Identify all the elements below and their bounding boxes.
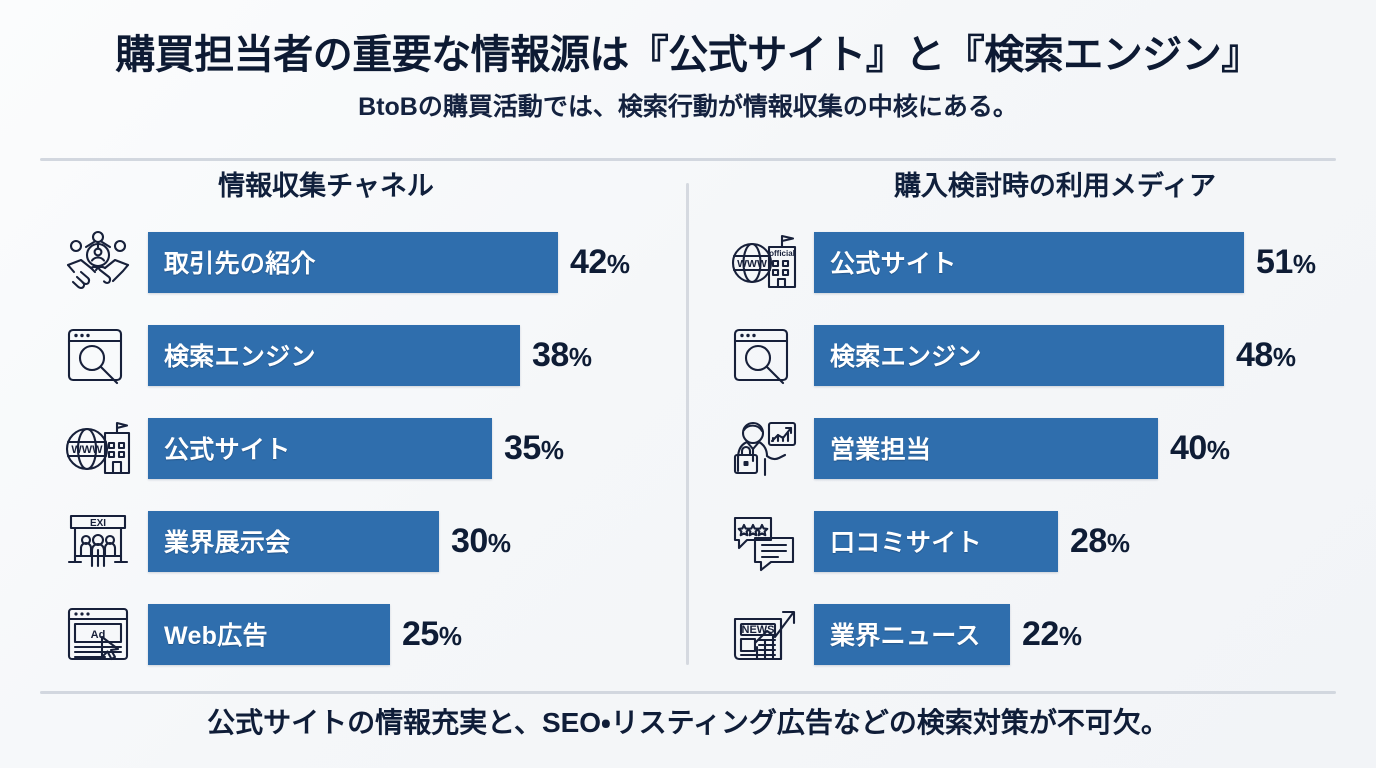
svg-text:official: official (769, 249, 795, 258)
bar-label: Web広告 (164, 616, 268, 652)
bar-and-value: 取引先の紹介 42% (148, 232, 662, 293)
divider-bottom (40, 691, 1336, 694)
bar-fill: 業界ニュース (814, 604, 1010, 665)
bar-value: 48% (1236, 336, 1295, 375)
bar-fill: 業界展示会 (148, 511, 439, 572)
bar-and-value: 業界ニュース 22% (814, 604, 1350, 665)
bar-fill: 検索エンジン (148, 325, 520, 386)
panel-purchase-media: 購入検討時の利用メディア WWW official (688, 172, 1376, 681)
bar-value: 35% (504, 429, 563, 468)
news-growth-icon: NEWS (714, 597, 814, 671)
bar-and-value: 検索エンジン 48% (814, 325, 1350, 386)
bar-list-left: 取引先の紹介 42% (48, 216, 662, 681)
bar-fill: 口コミサイト (814, 511, 1058, 572)
slide-root: 購買担当者の重要な情報源は『公式サイト』と『検索エンジン』 BtoBの購買活動で… (0, 0, 1376, 768)
svg-text:EXI: EXI (90, 518, 106, 529)
bar-value: 30% (451, 522, 510, 561)
handshake-network-icon (48, 225, 148, 299)
exhibition-booth-icon: EXI (48, 504, 148, 578)
bar-fill: 公式サイト (148, 418, 492, 479)
bar-row[interactable]: 検索エンジン 38% (48, 309, 662, 402)
bar-and-value: Web広告 25% (148, 604, 662, 665)
panel-title-right: 購入検討時の利用メディア (714, 172, 1350, 202)
bar-value: 38% (532, 336, 591, 375)
footer: 公式サイトの情報充実と、SEO・リスティング広告などの検索対策が不可欠。 (0, 706, 1376, 740)
sales-rep-chart-icon (714, 411, 814, 485)
bar-and-value: 業界展示会 30% (148, 511, 662, 572)
svg-text:WWW: WWW (737, 258, 767, 270)
bar-label: 口コミサイト (830, 523, 982, 559)
bar-row[interactable]: 取引先の紹介 42% (48, 216, 662, 309)
bar-row[interactable]: NEWS 業界ニュース 22% (714, 588, 1350, 681)
globe-building-icon: WWW (48, 411, 148, 485)
svg-text:WWW: WWW (71, 444, 103, 456)
page-subtitle: BtoBの購買活動では、検索行動が情報収集の中核にある。 (40, 92, 1336, 122)
bar-value: 40% (1170, 429, 1229, 468)
review-stars-chat-icon (714, 504, 814, 578)
page-title: 購買担当者の重要な情報源は『公式サイト』と『検索エンジン』 (40, 32, 1336, 78)
bar-value: 42% (570, 243, 629, 282)
browser-search-icon (714, 318, 814, 392)
header: 購買担当者の重要な情報源は『公式サイト』と『検索エンジン』 BtoBの購買活動で… (0, 0, 1376, 122)
divider-top (40, 158, 1336, 161)
bar-fill: 公式サイト (814, 232, 1244, 293)
bar-label: 検索エンジン (830, 337, 982, 373)
bar-label: 業界展示会 (164, 523, 291, 559)
footer-conclusion: 公式サイトの情報充実と、SEO・リスティング広告などの検索対策が不可欠。 (0, 706, 1376, 740)
bar-label: 営業担当 (830, 430, 931, 466)
bar-and-value: 営業担当 40% (814, 418, 1350, 479)
bar-value: 28% (1070, 522, 1129, 561)
panel-information-channels: 情報収集チャネル (0, 172, 688, 681)
bar-row[interactable]: EXI (48, 495, 662, 588)
browser-search-icon (48, 318, 148, 392)
panel-title-left: 情報収集チャネル (48, 172, 662, 202)
bar-row[interactable]: WWW official 公式サイト (714, 216, 1350, 309)
bar-row[interactable]: WWW 公式サイト (48, 402, 662, 495)
bar-and-value: 公式サイト 51% (814, 232, 1350, 293)
bar-and-value: 検索エンジン 38% (148, 325, 662, 386)
bar-value: 51% (1256, 243, 1315, 282)
bar-label: 取引先の紹介 (164, 244, 316, 280)
bar-value: 25% (402, 615, 461, 654)
bar-row[interactable]: 口コミサイト 28% (714, 495, 1350, 588)
bar-value: 22% (1022, 615, 1081, 654)
bar-and-value: 公式サイト 35% (148, 418, 662, 479)
bar-fill: 取引先の紹介 (148, 232, 558, 293)
bar-row[interactable]: 営業担当 40% (714, 402, 1350, 495)
bar-row[interactable]: Ad Web広告 25% (48, 588, 662, 681)
bar-fill: 営業担当 (814, 418, 1158, 479)
bar-label: 検索エンジン (164, 337, 316, 373)
bar-label: 公式サイト (164, 430, 291, 466)
bar-list-right: WWW official 公式サイト (714, 216, 1350, 681)
svg-text:Ad: Ad (91, 629, 106, 641)
web-ad-icon: Ad (48, 597, 148, 671)
bar-label: 業界ニュース (830, 616, 981, 652)
bar-label: 公式サイト (830, 244, 957, 280)
bar-row[interactable]: 検索エンジン 48% (714, 309, 1350, 402)
bar-and-value: 口コミサイト 28% (814, 511, 1350, 572)
globe-official-building-icon: WWW official (714, 225, 814, 299)
panels-container: 情報収集チャネル (0, 172, 1376, 681)
bar-fill: 検索エンジン (814, 325, 1224, 386)
bar-fill: Web広告 (148, 604, 390, 665)
